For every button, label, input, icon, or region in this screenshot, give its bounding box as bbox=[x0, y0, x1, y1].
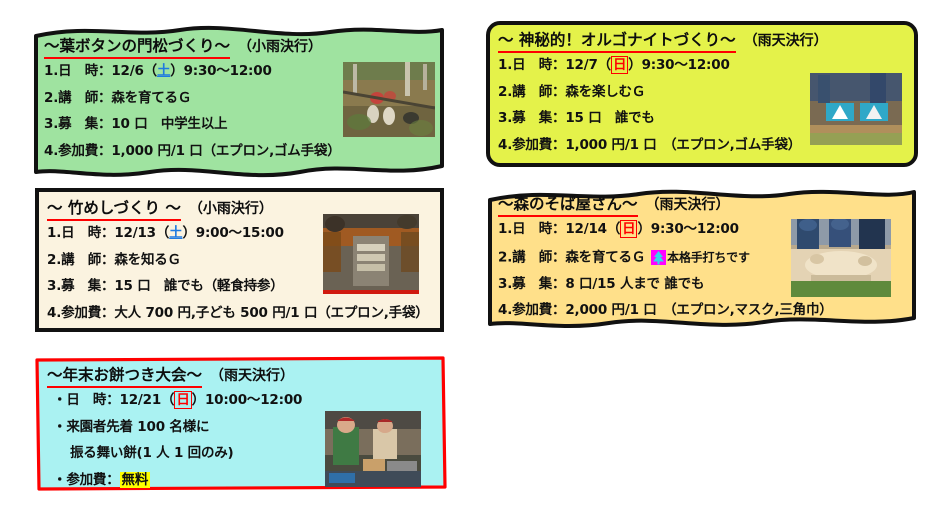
line-label: 募 集 bbox=[512, 110, 552, 126]
event-photo-takemeshi bbox=[323, 214, 419, 290]
line-number: 4. bbox=[498, 137, 512, 153]
day-marker-sunday: 日 bbox=[611, 56, 628, 74]
line-separator: ： bbox=[552, 110, 565, 126]
line-number: 4. bbox=[44, 143, 58, 159]
line-number: 3. bbox=[498, 110, 512, 126]
card-title: 〜 竹めしづくり 〜 bbox=[47, 196, 181, 221]
line-label: 参加費 bbox=[61, 305, 101, 321]
line-label: 日 時 bbox=[61, 225, 101, 241]
photo-thumbnail bbox=[343, 62, 435, 137]
line-value: 15 口 誰でも bbox=[565, 110, 654, 126]
line-value: 1,000 円/1 口（エプロン,ゴム手袋） bbox=[111, 143, 340, 159]
line-separator: ： bbox=[101, 278, 114, 294]
detail-line-datetime: ・日 時：12/21（日）10:00〜12:00 bbox=[53, 394, 448, 408]
line-number: 1. bbox=[47, 225, 61, 241]
line-separator: ： bbox=[552, 276, 565, 292]
line-label: 参加費 bbox=[512, 137, 552, 153]
line-separator: ： bbox=[98, 63, 111, 79]
photo-thumbnail bbox=[810, 73, 902, 145]
line-number: 2. bbox=[47, 252, 61, 268]
line-label: 日 時 bbox=[512, 221, 552, 237]
line-separator: ： bbox=[106, 392, 119, 408]
event-photo-orgonite bbox=[810, 73, 902, 145]
line-separator: ： bbox=[98, 143, 111, 159]
line-value-pre: 12/21（ bbox=[120, 392, 175, 408]
weather-note: （雨天決行） bbox=[646, 194, 730, 214]
line-value: 8 口/15 人まで 誰でも bbox=[565, 276, 704, 292]
line-label: 講 師 bbox=[61, 252, 101, 268]
line-value: 森を楽しむＧ bbox=[565, 84, 645, 100]
photo-thumbnail bbox=[325, 411, 421, 487]
weather-note: （雨天決行） bbox=[744, 30, 828, 50]
line-value-pre: 12/13（ bbox=[114, 225, 169, 241]
card-title: 〜森のそば屋さん〜 bbox=[498, 192, 638, 217]
line-number: 4. bbox=[498, 302, 512, 318]
line-value: 森を知るＧ bbox=[114, 252, 181, 268]
card-body: 〜年末お餅つき大会〜 （雨天決行） ・日 時：12/21（日）10:00〜12:… bbox=[33, 363, 448, 492]
line-label: 募 集 bbox=[512, 276, 552, 292]
card-title-row: 〜葉ボタンの門松づくり〜 （小雨決行） bbox=[44, 34, 448, 59]
line-value: 2,000 円/1 口 （エプロン,マスク,三角巾） bbox=[565, 302, 832, 318]
line-label: 日 時 bbox=[512, 57, 552, 73]
line-value-post: ）9:30〜12:00 bbox=[170, 63, 271, 79]
line-label: 講 師 bbox=[512, 249, 552, 265]
line-number: 1. bbox=[498, 221, 512, 237]
photo-thumbnail bbox=[791, 219, 891, 297]
line-label: 参加費 bbox=[66, 472, 106, 488]
line-label: 募 集 bbox=[58, 116, 98, 132]
badge-label: 本格手打ちです bbox=[667, 250, 750, 264]
line-value-post: ）10:00〜12:00 bbox=[192, 392, 303, 408]
line-separator: ： bbox=[106, 472, 119, 488]
card-title: 〜年末お餅つき大会〜 bbox=[47, 363, 202, 388]
line-label: 講 師 bbox=[58, 90, 98, 106]
card-title-row: 〜 神秘的！オルゴナイトづくり〜 （雨天決行） bbox=[498, 28, 920, 53]
line-label: 振る舞い餅(1 人 1 回のみ) bbox=[70, 445, 234, 461]
card-title-row: 〜年末お餅つき大会〜 （雨天決行） bbox=[47, 363, 448, 388]
card-title: 〜 神秘的！オルゴナイトづくり〜 bbox=[498, 28, 736, 53]
event-card-takemeshi[interactable]: 〜 竹めしづくり 〜 （小雨決行） 1.日 時：12/13（土）9:00〜15:… bbox=[33, 186, 446, 334]
line-label: 参加費 bbox=[58, 143, 98, 159]
line-number: 3. bbox=[47, 278, 61, 294]
line-separator: ： bbox=[98, 90, 111, 106]
line-number: 1. bbox=[498, 57, 512, 73]
line-number: 1. bbox=[44, 63, 58, 79]
line-value: 森を育てるＧ bbox=[565, 249, 645, 265]
event-photo-soba bbox=[791, 219, 891, 297]
line-separator: ： bbox=[101, 252, 114, 268]
bullet-marker: ・ bbox=[53, 472, 66, 488]
card-body: 〜 竹めしづくり 〜 （小雨決行） 1.日 時：12/13（土）9:00〜15:… bbox=[33, 196, 446, 334]
detail-line-fee: 4.参加費：大人 700 円,子ども 500 円/1 口（エプロン,手袋） bbox=[47, 307, 446, 321]
detail-line-datetime: 1.日 時：12/7（日）9:30〜12:00 bbox=[498, 59, 920, 73]
line-label: 講 師 bbox=[512, 84, 552, 100]
event-card-orgonite[interactable]: 〜 神秘的！オルゴナイトづくり〜 （雨天決行） 1.日 時：12/7（日）9:3… bbox=[484, 18, 920, 170]
card-body: 〜葉ボタンの門松づくり〜 （小雨決行） 1.日 時：12/6（土）9:30〜12… bbox=[30, 20, 448, 180]
line-value-pre: 12/6（ bbox=[111, 63, 157, 79]
line-value-post: ）9:00〜15:00 bbox=[182, 225, 283, 241]
line-separator: ： bbox=[101, 305, 114, 321]
weather-note: （雨天決行） bbox=[210, 365, 294, 385]
day-marker-sunday: 日 bbox=[174, 391, 191, 409]
line-value-post: ）9:30〜12:00 bbox=[628, 57, 729, 73]
card-title-row: 〜森のそば屋さん〜 （雨天決行） bbox=[498, 192, 920, 217]
line-separator: ： bbox=[552, 84, 565, 100]
line-value: 森を育てるＧ bbox=[111, 90, 191, 106]
line-value: 15 口 誰でも（軽食持参） bbox=[114, 278, 283, 294]
pine-tree-icon bbox=[651, 250, 666, 265]
event-card-soba[interactable]: 〜森のそば屋さん〜 （雨天決行） 1.日 時：12/14（日）9:30〜12:0… bbox=[484, 182, 920, 330]
line-number: 2. bbox=[44, 90, 58, 106]
line-separator: ： bbox=[101, 225, 114, 241]
line-value-pre: 12/7（ bbox=[565, 57, 611, 73]
event-photo-kadomatsu bbox=[343, 62, 435, 137]
line-value: 大人 700 円,子ども 500 円/1 口（エプロン,手袋） bbox=[114, 305, 428, 321]
line-separator: ： bbox=[98, 116, 111, 132]
line-label: 日 時 bbox=[66, 392, 106, 408]
day-marker-sunday: 日 bbox=[620, 220, 637, 238]
bullet-marker: ・ bbox=[53, 419, 66, 435]
line-separator: ： bbox=[552, 302, 565, 318]
line-separator: ： bbox=[552, 137, 565, 153]
line-separator: ： bbox=[552, 221, 565, 237]
line-label: 募 集 bbox=[61, 278, 101, 294]
line-value-post: ）9:30〜12:00 bbox=[637, 221, 738, 237]
flyer-sheet: 〜葉ボタンの門松づくり〜 （小雨決行） 1.日 時：12/6（土）9:30〜12… bbox=[0, 0, 947, 526]
line-value: 1,000 円/1 口 （エプロン,ゴム手袋） bbox=[565, 137, 801, 153]
line-number: 2. bbox=[498, 84, 512, 100]
detail-line-fee: 4.参加費：1,000 円/1 口（エプロン,ゴム手袋） bbox=[44, 145, 448, 159]
weather-note: （小雨決行） bbox=[189, 198, 273, 218]
line-number: 3. bbox=[498, 276, 512, 292]
card-title: 〜葉ボタンの門松づくり〜 bbox=[44, 34, 230, 59]
photo-thumbnail bbox=[323, 214, 419, 290]
line-value-pre: 12/14（ bbox=[565, 221, 620, 237]
weather-note: （小雨決行） bbox=[238, 36, 322, 56]
day-marker-saturday: 土 bbox=[157, 63, 170, 79]
line-label: 来園者先着 100 名様に bbox=[66, 419, 209, 435]
event-card-mochi[interactable]: 〜年末お餅つき大会〜 （雨天決行） ・日 時：12/21（日）10:00〜12:… bbox=[33, 355, 448, 492]
event-photo-mochi bbox=[325, 411, 421, 487]
card-body: 〜 神秘的！オルゴナイトづくり〜 （雨天決行） 1.日 時：12/7（日）9:3… bbox=[484, 28, 920, 170]
line-value: 10 口 中学生以上 bbox=[111, 116, 227, 132]
line-number: 2. bbox=[498, 249, 512, 265]
line-separator: ： bbox=[552, 249, 565, 265]
line-label: 日 時 bbox=[58, 63, 98, 79]
card-body: 〜森のそば屋さん〜 （雨天決行） 1.日 時：12/14（日）9:30〜12:0… bbox=[484, 192, 920, 330]
day-marker-saturday: 土 bbox=[169, 225, 182, 241]
event-card-kadomatsu[interactable]: 〜葉ボタンの門松づくり〜 （小雨決行） 1.日 時：12/6（土）9:30〜12… bbox=[30, 20, 448, 180]
bullet-marker: ・ bbox=[53, 392, 66, 408]
fee-value-free: 無料 bbox=[120, 472, 151, 488]
detail-line-fee: 4.参加費：2,000 円/1 口 （エプロン,マスク,三角巾） bbox=[498, 304, 920, 318]
line-label: 参加費 bbox=[512, 302, 552, 318]
line-separator: ： bbox=[552, 57, 565, 73]
line-number: 4. bbox=[47, 305, 61, 321]
line-number: 3. bbox=[44, 116, 58, 132]
